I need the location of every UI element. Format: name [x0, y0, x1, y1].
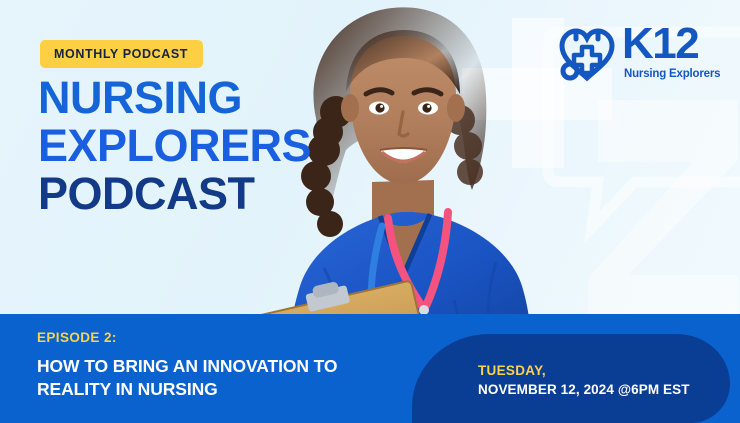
- heart-stethoscope-cross-icon: [556, 26, 618, 82]
- logo-wordmark: K12: [622, 22, 698, 66]
- monthly-podcast-badge: MONTHLY PODCAST: [40, 40, 203, 68]
- episode-number-label: EPISODE 2:: [37, 330, 117, 345]
- podcast-promo-poster: MONTHLY PODCAST NURSING EXPLORERS PODCAS…: [0, 0, 740, 423]
- page-title: NURSING EXPLORERS PODCAST: [38, 76, 378, 216]
- logo-tagline: Nursing Explorers: [624, 68, 720, 80]
- title-line-nursing: NURSING: [38, 76, 378, 119]
- date-panel: [412, 334, 730, 423]
- title-line-podcast: PODCAST: [38, 172, 378, 215]
- episode-title: HOW TO BRING AN INNOVATION TO REALITY IN…: [37, 355, 407, 402]
- title-line-explorers: EXPLORERS: [38, 124, 378, 167]
- event-day-label: TUESDAY,: [478, 363, 546, 378]
- k12-logo: K12 Nursing Explorers: [556, 24, 728, 86]
- event-datetime-label: NOVEMBER 12, 2024 @6PM EST: [478, 382, 690, 397]
